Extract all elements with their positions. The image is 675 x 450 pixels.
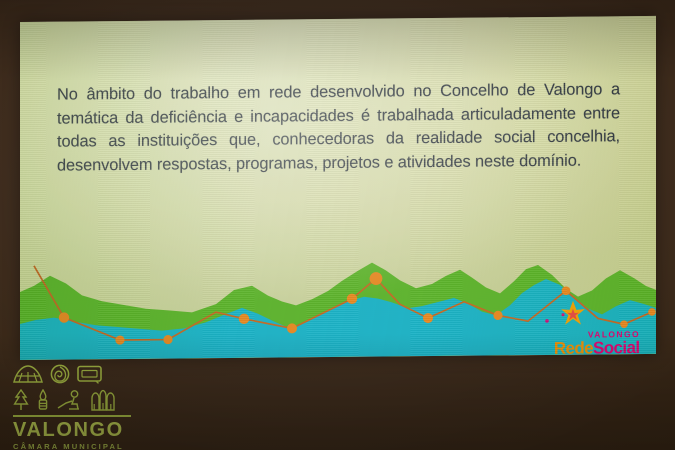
slide-paragraph: No âmbito do trabalho em rede desenvolvi… [57,78,620,177]
screenshot-root: No âmbito do trabalho em rede desenvolvi… [0,0,675,450]
monitor-screen-icon [77,365,102,384]
logo-divider [13,415,131,417]
slate-worker-icon [57,389,83,411]
monastery-buildings-icon [90,389,116,411]
projected-slide: No âmbito do trabalho em rede desenvolvi… [20,16,656,360]
logo-icon-row-two [13,389,131,411]
trilobite-fossil-icon [50,364,70,384]
valongo-municipal-logo: VALONGO CÂMARA MUNICIPAL [13,364,131,450]
hill-dolmen-icon [13,364,43,384]
slide-body-text: No âmbito do trabalho em rede desenvolvi… [57,78,620,177]
logo-municipality-name: VALONGO [13,420,131,440]
mining-lamp-icon [36,389,50,411]
logo-icon-row-one [13,364,131,384]
footer-area-chart: VALONGO RedeSocial [20,234,656,360]
slide-content-area: No âmbito do trabalho em rede desenvolvi… [20,16,656,360]
area-chart-svg [20,234,656,360]
pine-tree-icon [13,389,29,411]
logo-municipality-subtitle: CÂMARA MUNICIPAL [13,443,131,450]
